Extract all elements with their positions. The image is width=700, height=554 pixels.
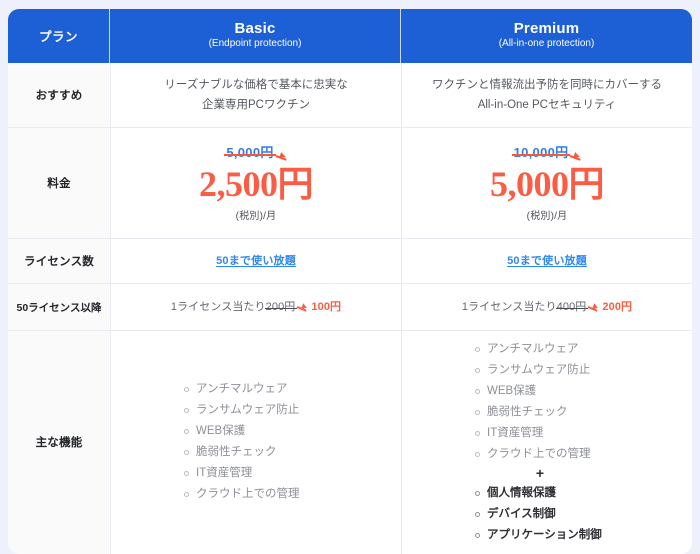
price-premium: 10,000円 5,000円 (税別)/月 — [401, 128, 692, 239]
over-arrow-icon — [297, 302, 310, 311]
license-count-premium: 50まで使い放題 — [401, 239, 692, 284]
features-premium: アンチマルウェア ランサムウェア防止 WEB保護 脆弱性チェック IT資産管理 … — [401, 331, 692, 554]
over-new-premium: 200円 — [602, 301, 632, 313]
price-basic: 5,000円 2,500円 (税別)/月 — [110, 128, 401, 239]
recommend-basic: リーズナブルな価格で基本に忠実な 企業専用PCワクチン — [110, 63, 401, 128]
list-item: ランサムウェア防止 — [474, 360, 624, 381]
over-new-basic: 100円 — [311, 301, 341, 313]
list-item: クラウド上での管理 — [474, 444, 624, 465]
old-price-basic: 5,000円 — [226, 143, 273, 164]
license-link-basic[interactable]: 50まで使い放題 — [216, 255, 296, 267]
feature-list-premium-base: アンチマルウェア ランサムウェア防止 WEB保護 脆弱性チェック IT資産管理 … — [474, 339, 624, 465]
plan-subtitle-premium: (All-in-one protection) — [407, 38, 686, 51]
table-row-features: 主な機能 アンチマルウェア ランサムウェア防止 WEB保護 脆弱性チェック IT… — [8, 331, 692, 554]
license-count-basic: 50まで使い放題 — [110, 239, 401, 284]
row-label-over-fifty: 50ライセンス以降 — [8, 284, 110, 331]
list-item: WEB保護 — [474, 381, 624, 402]
header-plan-premium: Premium (All-in-one protection) — [401, 9, 692, 63]
recommend-premium-line1: ワクチンと情報流出予防を同時にカバーする — [432, 79, 662, 91]
new-price-basic: 2,500円 — [121, 165, 391, 204]
list-item: クラウド上での管理 — [183, 484, 333, 505]
header-plan-label: プラン — [8, 9, 110, 63]
list-item: WEB保護 — [183, 421, 333, 442]
list-item: アンチマルウェア — [474, 339, 624, 360]
over-old-premium: 400円 — [557, 299, 588, 317]
old-price-basic-wrap: 5,000円 — [226, 143, 285, 164]
plan-name-basic: Basic — [116, 20, 394, 37]
row-label-license-count: ライセンス数 — [8, 239, 110, 284]
feature-list-premium-extra: 個人情報保護 デバイス制御 アプリケーション制御 — [474, 483, 624, 546]
list-item: アプリケーション制御 — [474, 525, 624, 546]
pricing-table-page: プラン Basic (Endpoint protection) Premium … — [0, 0, 700, 501]
table-row-recommend: おすすめ リーズナブルな価格で基本に忠実な 企業専用PCワクチン ワクチンと情報… — [8, 63, 692, 128]
list-item: アンチマルウェア — [183, 379, 333, 400]
row-label-recommend: おすすめ — [8, 63, 110, 128]
list-item: IT資産管理 — [474, 423, 624, 444]
list-item: ランサムウェア防止 — [183, 400, 333, 421]
table-header-row: プラン Basic (Endpoint protection) Premium … — [8, 9, 692, 63]
list-item: 脆弱性チェック — [183, 442, 333, 463]
table-row-over-fifty: 50ライセンス以降 1ライセンス当たり200円100円 1ライセンス当たり400… — [8, 284, 692, 331]
price-arrow-icon — [570, 151, 581, 161]
table-row-price: 料金 5,000円 2,500円 (税別)/月 10,000円 — [8, 128, 692, 239]
row-label-features: 主な機能 — [8, 331, 110, 554]
row-label-price: 料金 — [8, 128, 110, 239]
list-item: 脆弱性チェック — [474, 402, 624, 423]
feature-list-basic: アンチマルウェア ランサムウェア防止 WEB保護 脆弱性チェック IT資産管理 … — [183, 379, 333, 505]
recommend-premium-line2: All-in-One PCセキュリティ — [478, 99, 617, 111]
header-plan-basic: Basic (Endpoint protection) — [110, 9, 401, 63]
price-arrow-icon — [276, 151, 287, 161]
old-price-premium-wrap: 10,000円 — [514, 143, 581, 164]
recommend-basic-line1: リーズナブルな価格で基本に忠実な — [164, 79, 347, 91]
list-item: 個人情報保護 — [474, 483, 624, 504]
tax-note-premium: (税別)/月 — [412, 209, 682, 225]
new-price-premium: 5,000円 — [412, 165, 682, 204]
recommend-premium: ワクチンと情報流出予防を同時にカバーする All-in-One PCセキュリティ — [401, 63, 692, 128]
over-arrow-icon — [588, 302, 601, 311]
plan-comparison-table: プラン Basic (Endpoint protection) Premium … — [8, 9, 692, 554]
list-item: デバイス制御 — [474, 504, 624, 525]
old-price-premium: 10,000円 — [514, 143, 569, 164]
over-old-basic: 200円 — [266, 299, 297, 317]
plan-name-premium: Premium — [407, 20, 686, 37]
license-link-premium[interactable]: 50まで使い放題 — [507, 255, 587, 267]
recommend-basic-line2: 企業専用PCワクチン — [202, 99, 310, 111]
plan-subtitle-basic: (Endpoint protection) — [116, 38, 394, 51]
features-basic: アンチマルウェア ランサムウェア防止 WEB保護 脆弱性チェック IT資産管理 … — [110, 331, 401, 554]
list-item: IT資産管理 — [183, 463, 333, 484]
features-plus-separator: + — [474, 466, 624, 481]
table-row-license-count: ライセンス数 50まで使い放題 50まで使い放題 — [8, 239, 692, 284]
over-fifty-premium: 1ライセンス当たり400円200円 — [401, 284, 692, 331]
over-fifty-basic: 1ライセンス当たり200円100円 — [110, 284, 401, 331]
tax-note-basic: (税別)/月 — [121, 209, 391, 225]
over-prefix-premium: 1ライセンス当たり — [462, 301, 557, 313]
over-prefix-basic: 1ライセンス当たり — [171, 301, 266, 313]
